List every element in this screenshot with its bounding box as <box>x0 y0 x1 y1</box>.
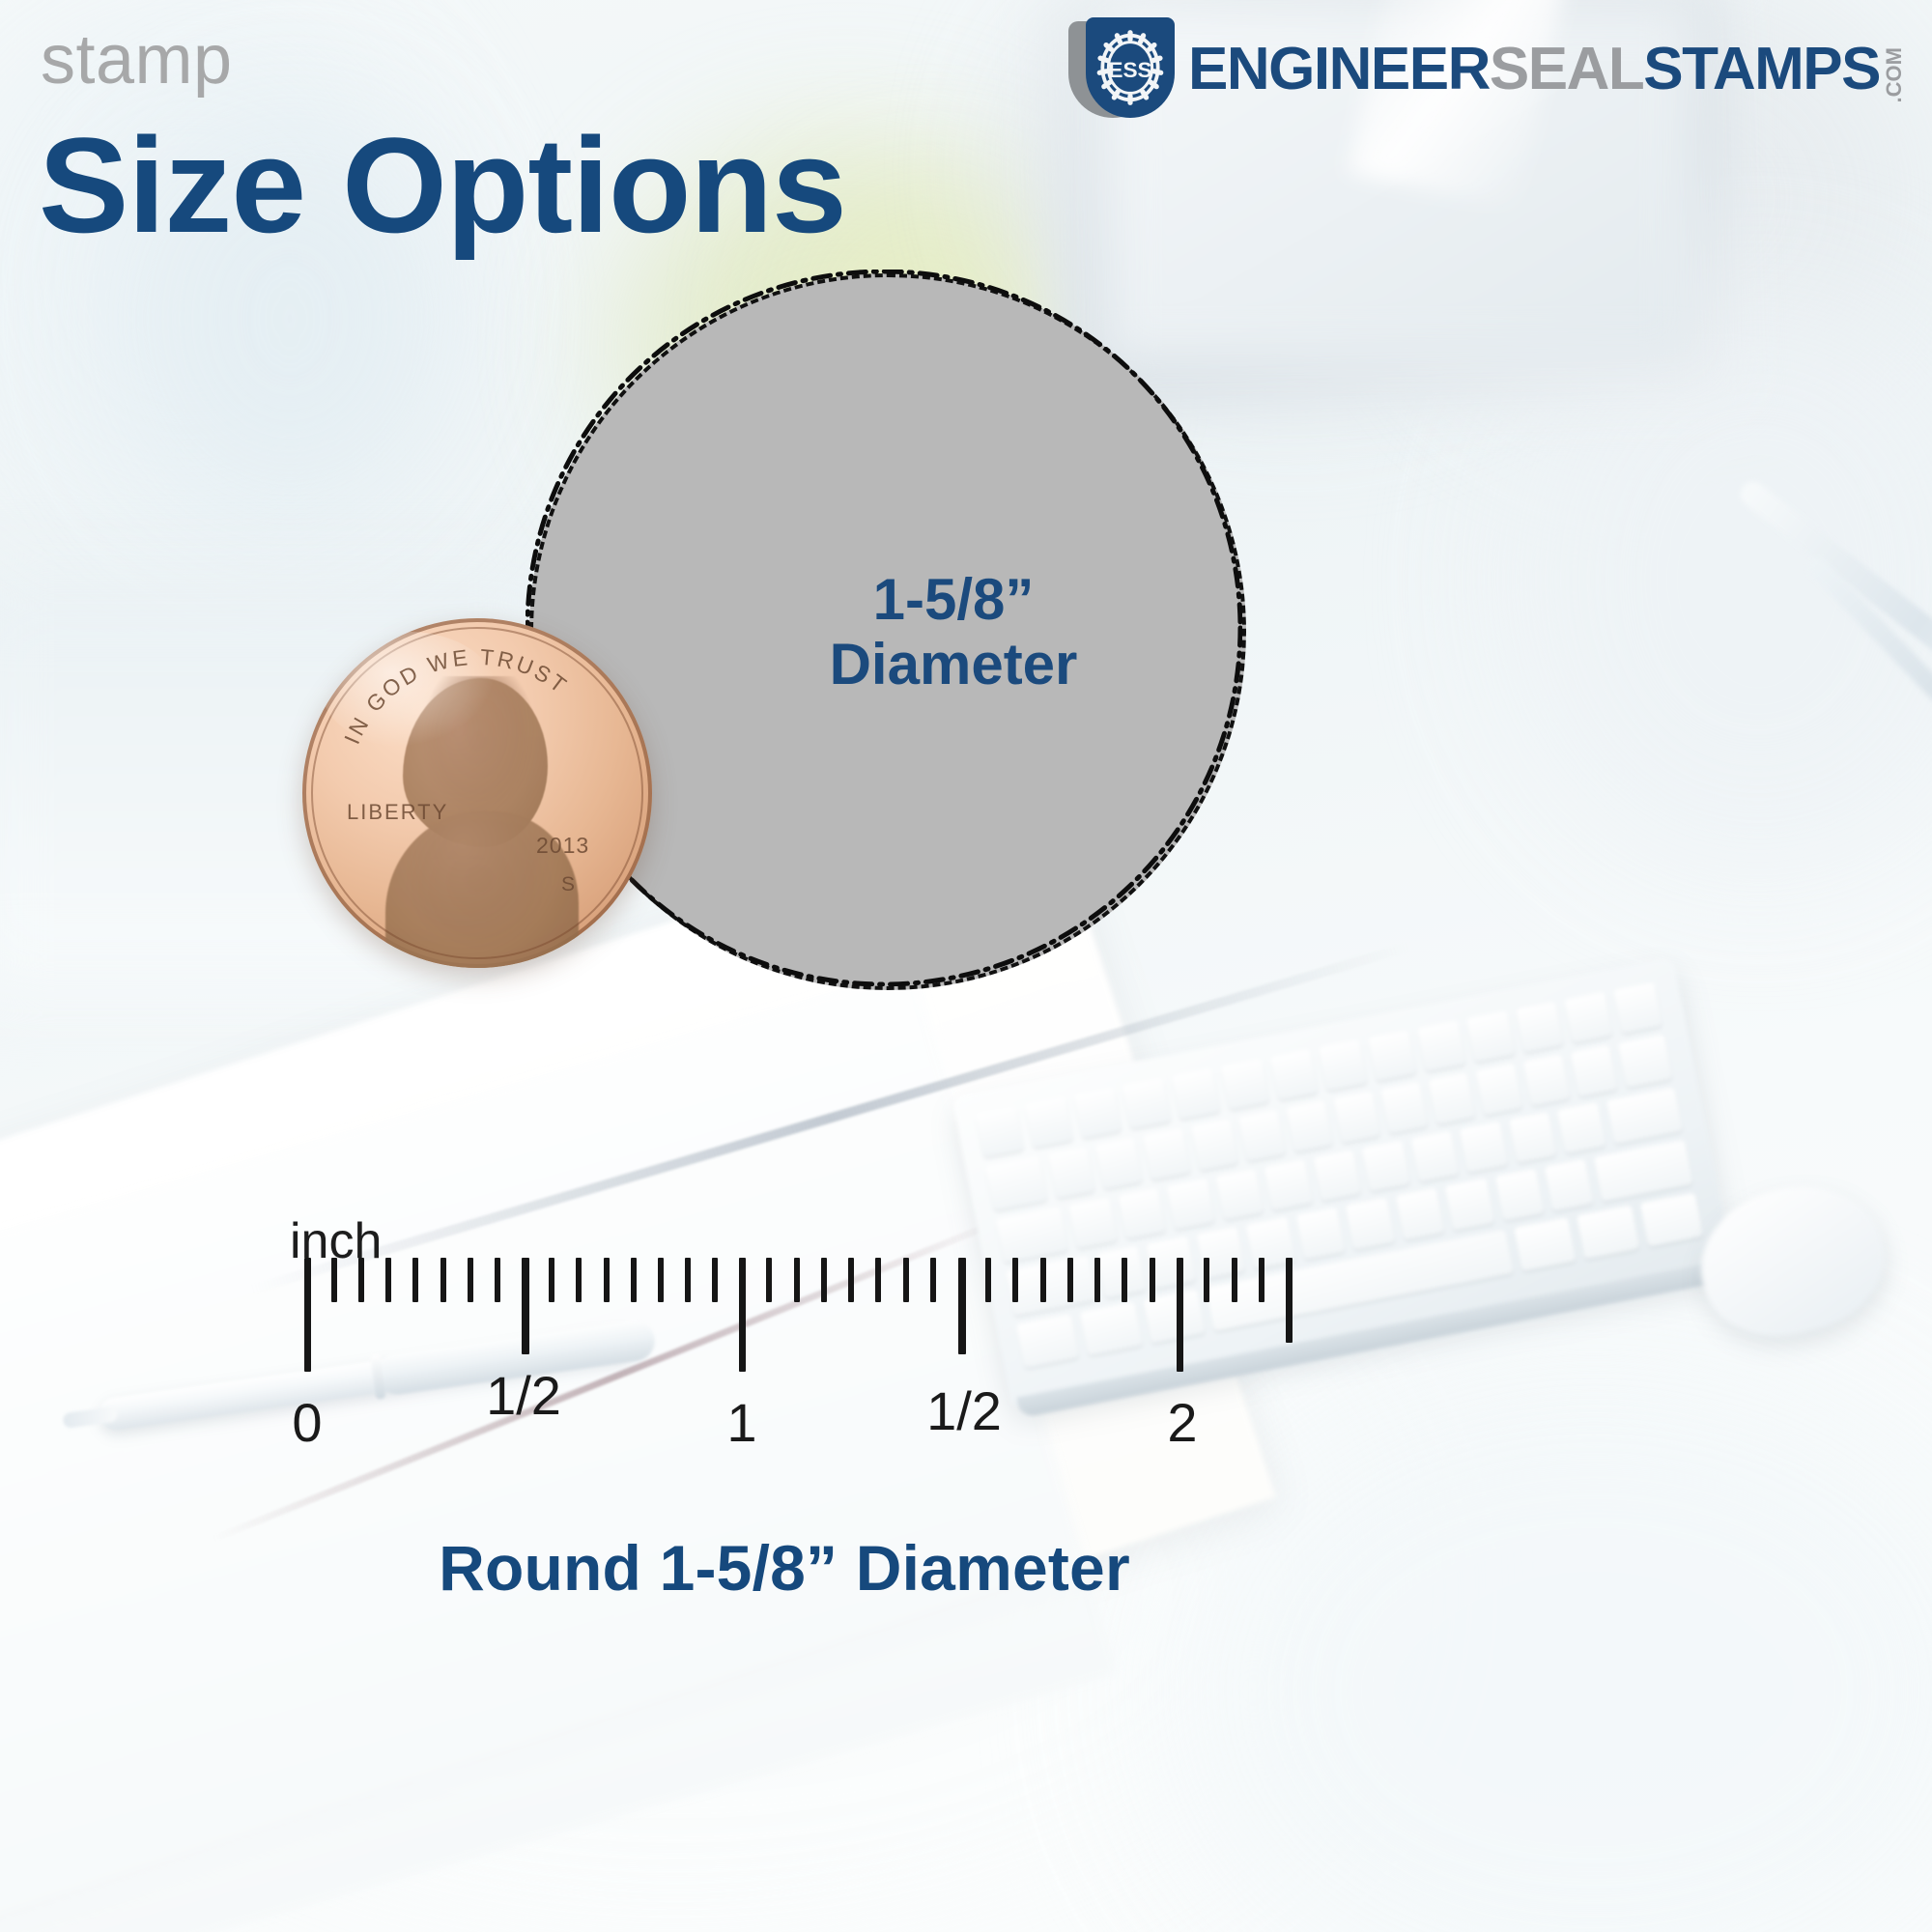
size-options-graphic: stamp Size Options <box>0 0 1932 1932</box>
logo-word-engineer: ENGINEER <box>1188 40 1490 99</box>
size-dimension-line1: 1-5/8” <box>830 567 1078 632</box>
penny-mint-mark: S <box>561 873 575 895</box>
ess-shield-icon: ESS <box>1068 17 1179 122</box>
page-title: Size Options <box>39 114 846 256</box>
size-dimension-line2: Diameter <box>830 632 1078 696</box>
penny-coin: IN GOD WE TRUST LIBERTY 2013 S <box>302 618 652 968</box>
penny-year: 2013 <box>536 833 589 858</box>
penny-liberty: LIBERTY <box>347 800 448 824</box>
svg-text:IN GOD WE TRUST: IN GOD WE TRUST <box>339 644 573 748</box>
penny-inscriptions: IN GOD WE TRUST LIBERTY 2013 S <box>302 618 652 968</box>
gear-icon: ESS <box>1094 29 1167 106</box>
logo-tld: .COM <box>1884 47 1905 102</box>
eyebrow-label: stamp <box>41 25 233 95</box>
logo-word-stamps: STAMPS <box>1643 40 1880 99</box>
penny-motto: IN GOD WE TRUST <box>339 644 573 748</box>
brand-logo[interactable]: ESS ENGINEER SEAL STAMPS .COM <box>1068 17 1905 122</box>
ess-badge-text: ESS <box>1108 58 1151 82</box>
caption: Round 1-5/8” Diameter <box>0 1531 1932 1605</box>
size-shape-label: 1-5/8” Diameter <box>830 567 1078 696</box>
logo-word-seal: SEAL <box>1490 40 1643 99</box>
caption-text: Round 1-5/8” Diameter <box>439 1531 1130 1605</box>
